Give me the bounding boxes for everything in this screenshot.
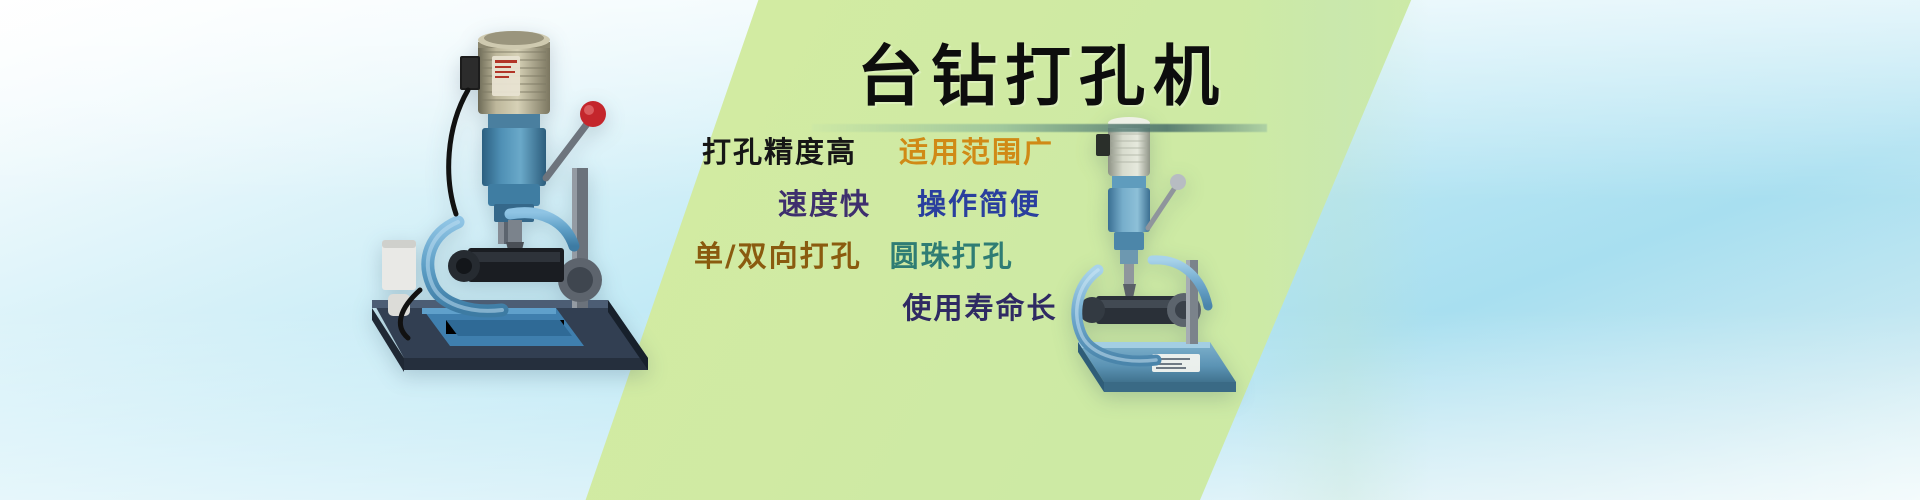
banner-title: 台钻打孔机	[762, 40, 1322, 113]
feature-bead-drilling: 圆珠打孔	[890, 242, 1014, 271]
title-divider	[812, 124, 1267, 132]
product-photo-main	[360, 8, 660, 378]
product-banner: 台钻打孔机 打孔精度高 适用范围广 速度快 操作简便 单/双向打孔 圆珠打孔 使…	[0, 0, 1920, 500]
feature-row: 打孔精度高 适用范围广	[660, 138, 1300, 190]
feature-easy-operation: 操作简便	[917, 190, 1041, 219]
feature-long-lifespan: 使用寿命长	[902, 294, 1057, 323]
feature-precision: 打孔精度高	[702, 138, 857, 167]
feature-list: 打孔精度高 适用范围广 速度快 操作简便 单/双向打孔 圆珠打孔 使用寿命长	[660, 138, 1300, 346]
feature-single-double-drilling: 单/双向打孔	[694, 242, 862, 271]
feature-application-range: 适用范围广	[899, 138, 1054, 167]
feature-row: 单/双向打孔 圆珠打孔	[660, 242, 1300, 294]
feature-row: 使用寿命长	[660, 294, 1300, 346]
feature-row: 速度快 操作简便	[660, 190, 1300, 242]
feature-fast-speed: 速度快	[778, 190, 871, 219]
